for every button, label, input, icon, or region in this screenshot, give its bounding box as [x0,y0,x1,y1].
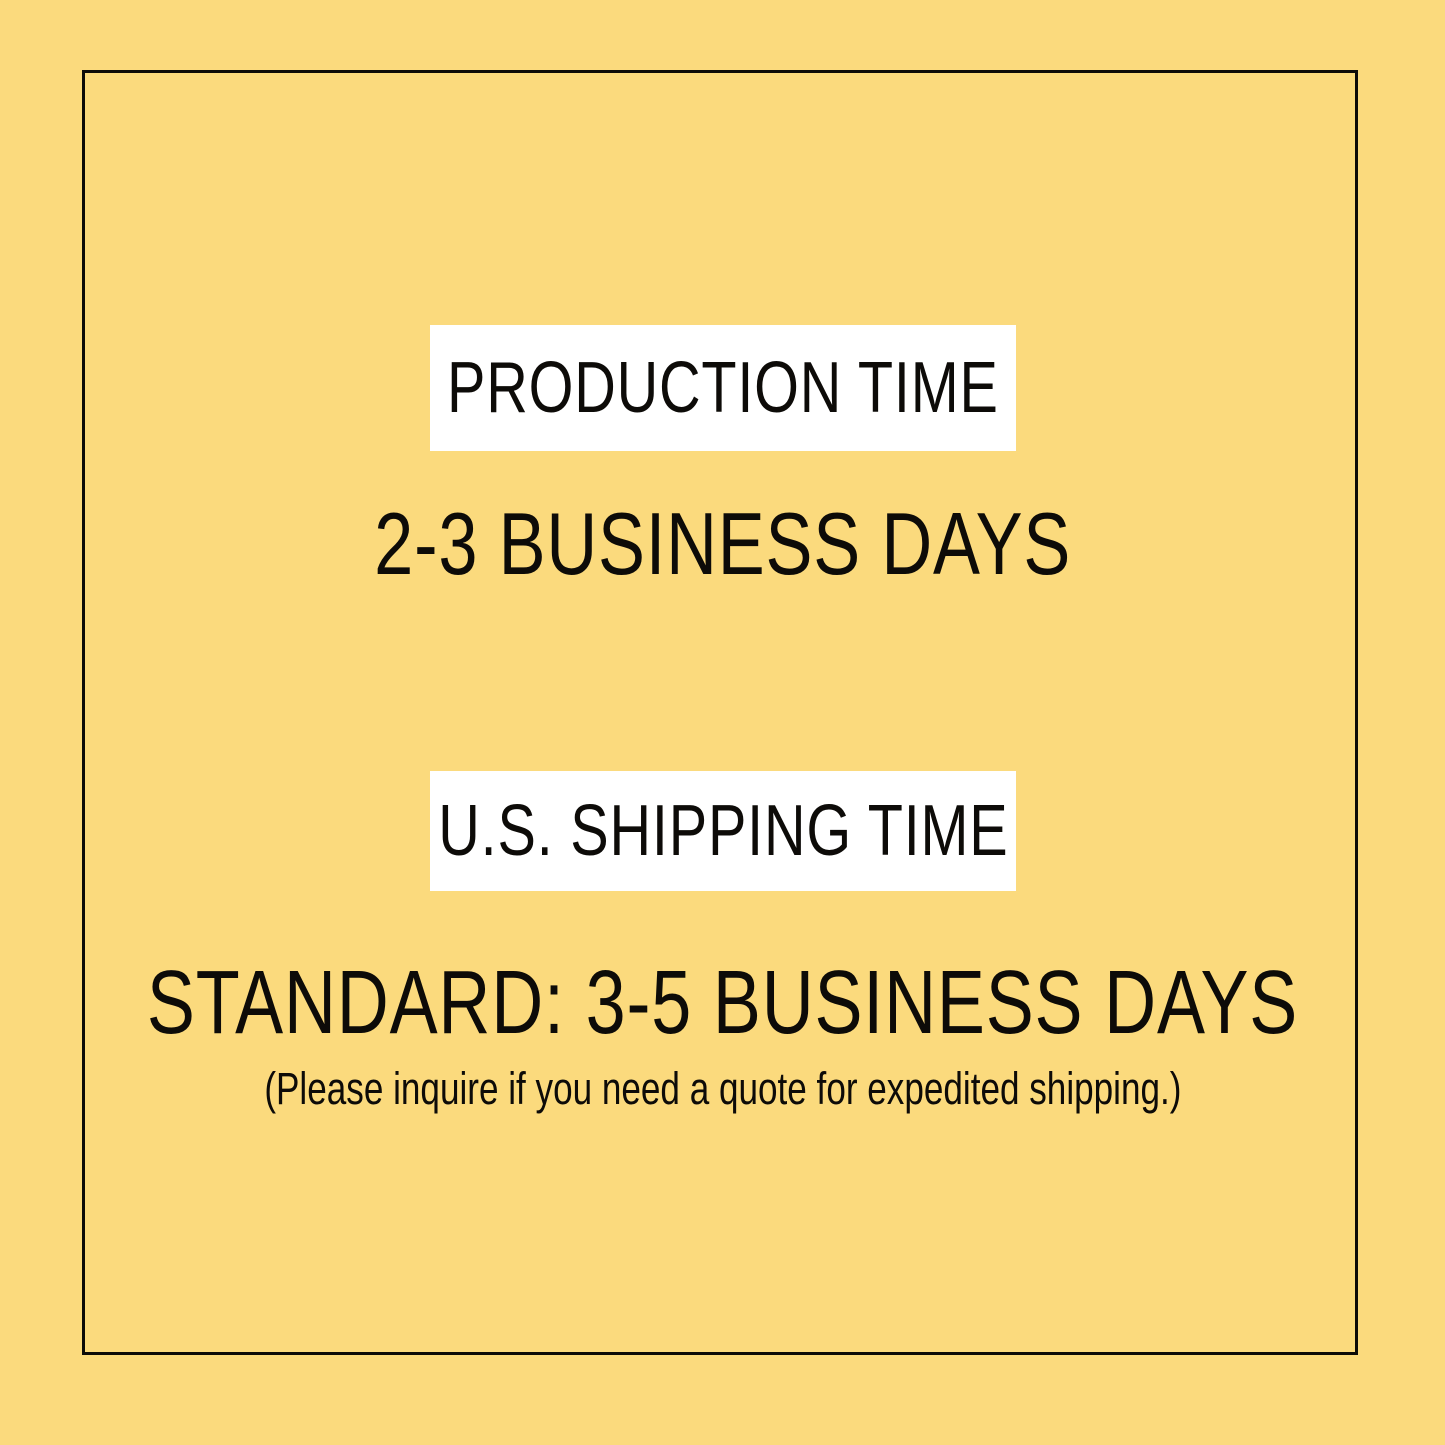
shipping-info-poster: PRODUCTION TIME 2-3 BUSINESS DAYS U.S. S… [0,0,1445,1445]
shipping-time-note-label: (Please inquire if you need a quote for … [264,1066,1181,1111]
shipping-time-heading-label: U.S. SHIPPING TIME [438,795,1008,867]
production-time-value: 2-3 BUSINESS DAYS [0,500,1445,588]
shipping-time-value: STANDARD: 3-5 BUSINESS DAYS [0,958,1445,1048]
production-time-value-label: 2-3 BUSINESS DAYS [374,500,1071,588]
poster-border-frame [82,70,1358,1355]
shipping-time-heading-plate: U.S. SHIPPING TIME [430,771,1016,891]
shipping-time-value-label: STANDARD: 3-5 BUSINESS DAYS [147,958,1298,1048]
production-time-heading-label: PRODUCTION TIME [447,352,999,424]
shipping-time-note: (Please inquire if you need a quote for … [0,1066,1445,1111]
production-time-heading-plate: PRODUCTION TIME [430,325,1016,451]
